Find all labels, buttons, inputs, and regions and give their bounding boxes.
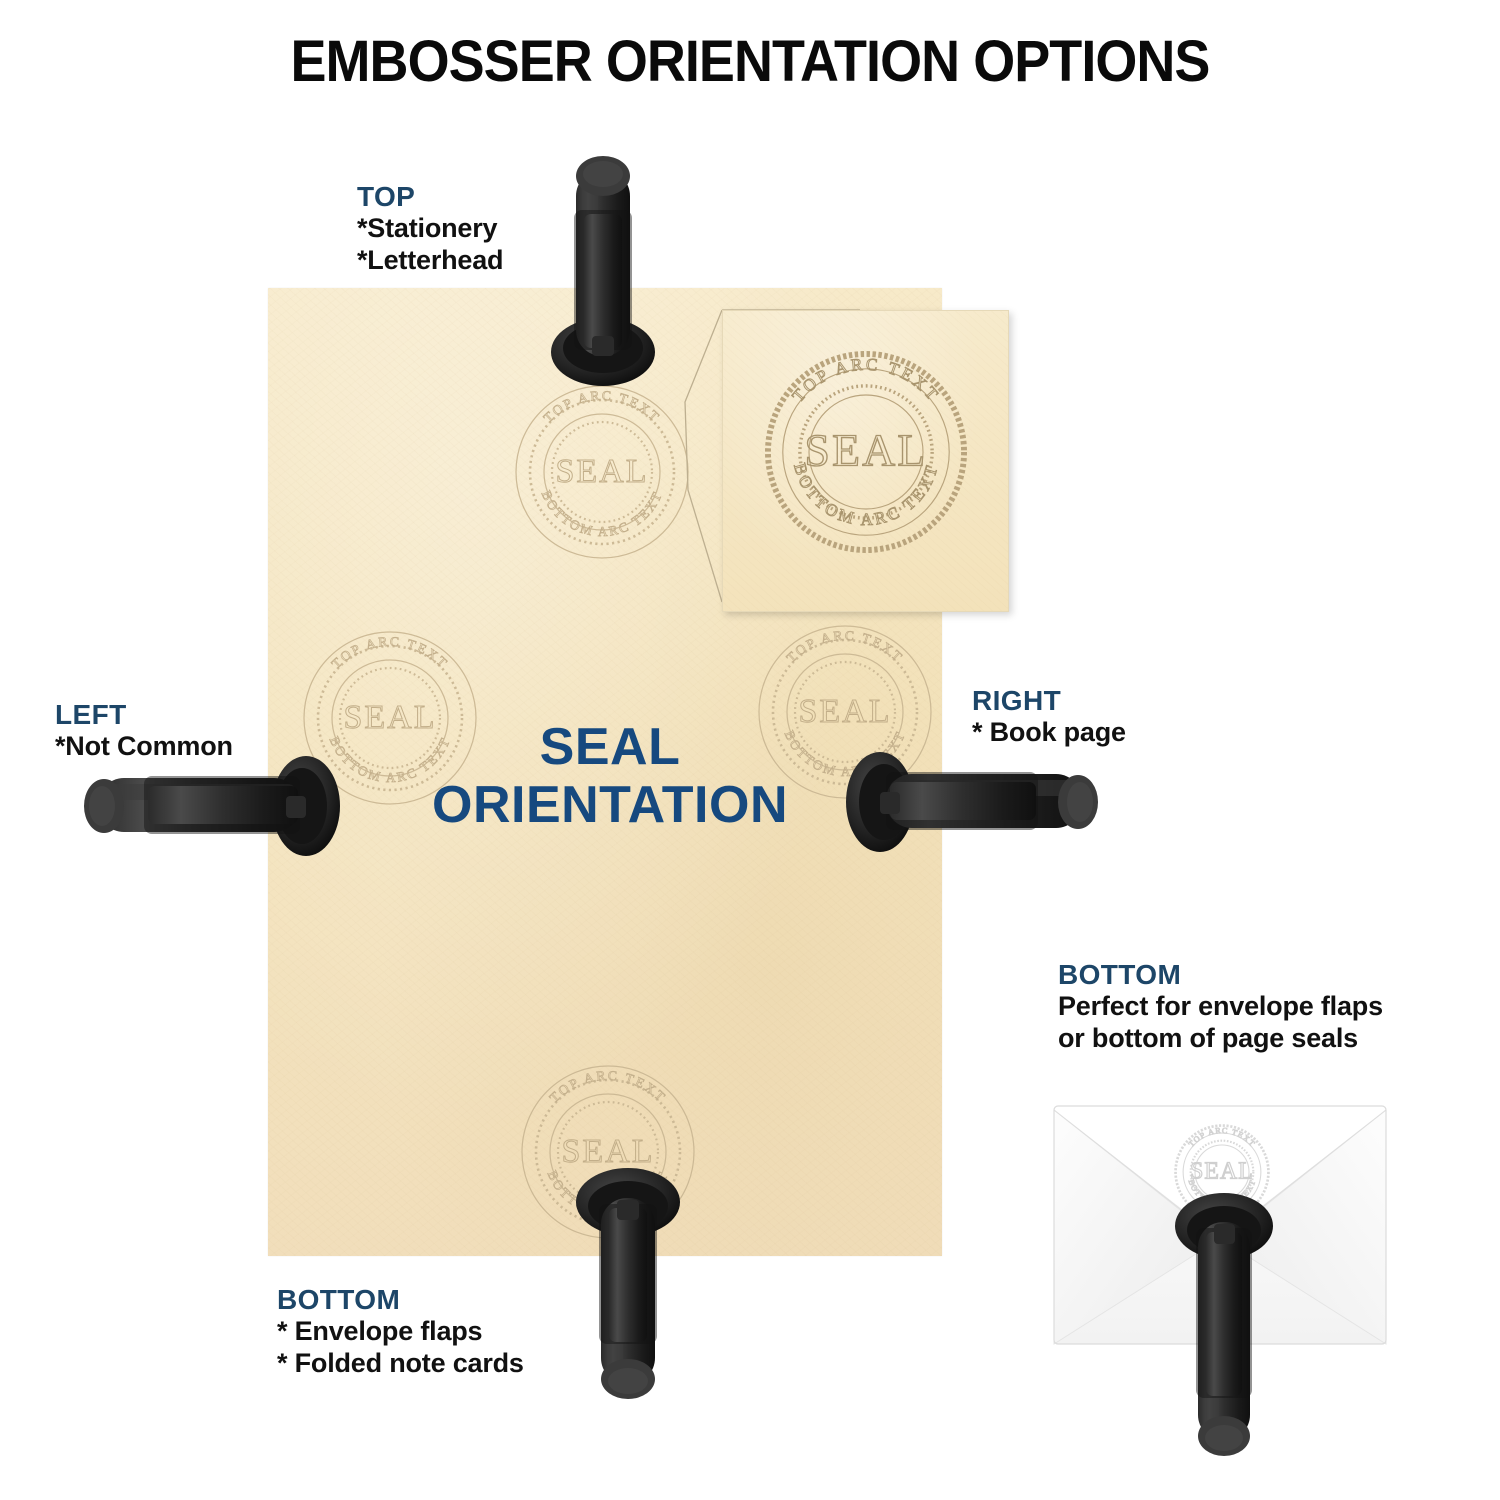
center-caption-line2: ORIENTATION [330, 776, 890, 834]
label-top: TOP *Stationery *Letterhead [357, 180, 503, 277]
label-bottom-left: BOTTOM * Envelope flaps * Folded note ca… [277, 1283, 524, 1380]
label-top-heading: TOP [357, 180, 503, 213]
center-caption: SEAL ORIENTATION [330, 718, 890, 834]
center-caption-line1: SEAL [330, 718, 890, 776]
label-bottom-right: BOTTOM Perfect for envelope flaps or bot… [1058, 958, 1383, 1055]
embosser-tool-left[interactable] [88, 752, 350, 858]
label-right: RIGHT * Book page [972, 684, 1126, 749]
label-left: LEFT *Not Common [55, 698, 233, 763]
embosser-tool-envelope[interactable] [1172, 1186, 1276, 1464]
embosser-tool-bottom[interactable] [573, 1160, 683, 1405]
label-bottom-left-line-0: * Envelope flaps [277, 1316, 524, 1348]
label-right-heading: RIGHT [972, 684, 1126, 717]
label-top-line-1: *Letterhead [357, 245, 503, 277]
embosser-tool-right[interactable] [846, 748, 1094, 854]
label-bottom-right-heading: BOTTOM [1058, 958, 1383, 991]
label-top-line-0: *Stationery [357, 213, 503, 245]
label-bottom-left-line-1: * Folded note cards [277, 1348, 524, 1380]
seal-magnifier-callout [722, 310, 1009, 612]
label-right-line-0: * Book page [972, 717, 1126, 749]
label-left-line-0: *Not Common [55, 731, 233, 763]
page-title: EMBOSSER ORIENTATION OPTIONS [53, 28, 1448, 95]
embosser-tool-top[interactable] [548, 152, 658, 392]
label-left-heading: LEFT [55, 698, 233, 731]
label-bottom-right-line-1: or bottom of page seals [1058, 1023, 1383, 1055]
label-bottom-left-heading: BOTTOM [277, 1283, 524, 1316]
label-bottom-right-line-0: Perfect for envelope flaps [1058, 991, 1383, 1023]
